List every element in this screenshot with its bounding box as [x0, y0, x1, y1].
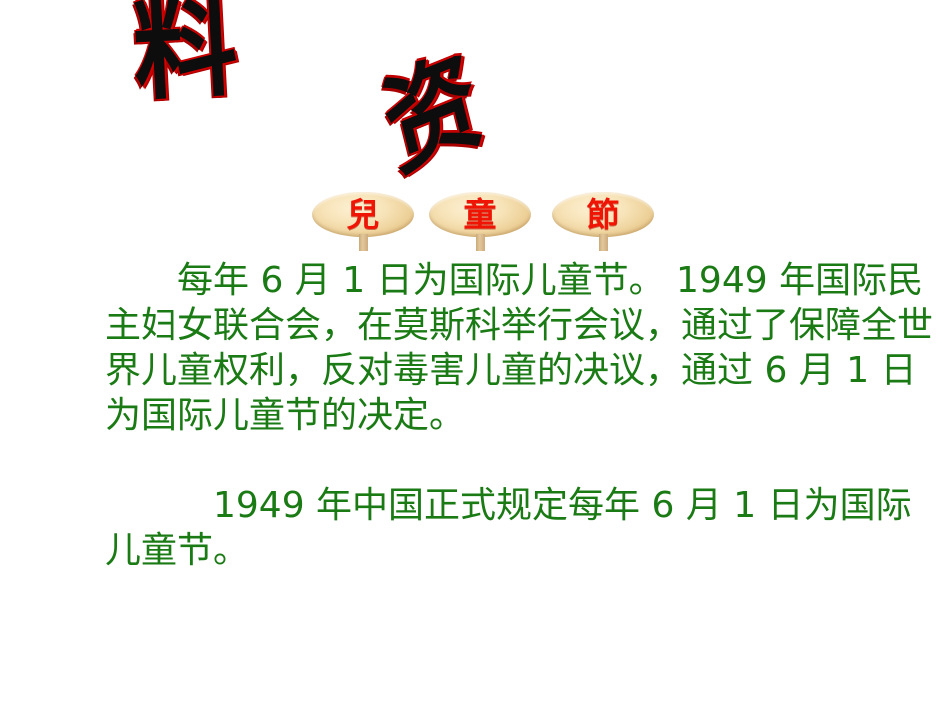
- sign-plaque-tong: 童: [429, 192, 531, 240]
- plaque-stick-icon: [599, 234, 608, 251]
- plaque-stick-icon: [476, 234, 485, 251]
- plaque-stick-icon: [359, 234, 368, 251]
- sign-plaque-jie: 節: [552, 192, 654, 240]
- plaque-glyph-er: 兒: [312, 192, 414, 237]
- slide-canvas: 料 资 兒 童 節 每年 6 月 1 日为国际儿童节。 1949 年国际民主妇女…: [0, 0, 950, 713]
- plaque-glyph-tong: 童: [429, 192, 531, 237]
- plaque-glyph-jie: 節: [552, 192, 654, 237]
- body-paragraph-2: 1949 年中国正式规定每年 6 月 1 日为国际儿童节。: [105, 483, 943, 573]
- brush-title-char-liao: 料: [130, 0, 240, 107]
- brush-title-char-zi: 资: [374, 43, 489, 184]
- paragraph-spacer: [105, 438, 943, 483]
- sign-plaque-er: 兒: [312, 192, 414, 240]
- childrens-day-sign-group: 兒 童 節: [312, 192, 672, 254]
- body-text-block: 每年 6 月 1 日为国际儿童节。 1949 年国际民主妇女联合会，在莫斯科举行…: [105, 258, 943, 573]
- body-paragraph-1: 每年 6 月 1 日为国际儿童节。 1949 年国际民主妇女联合会，在莫斯科举行…: [105, 258, 943, 438]
